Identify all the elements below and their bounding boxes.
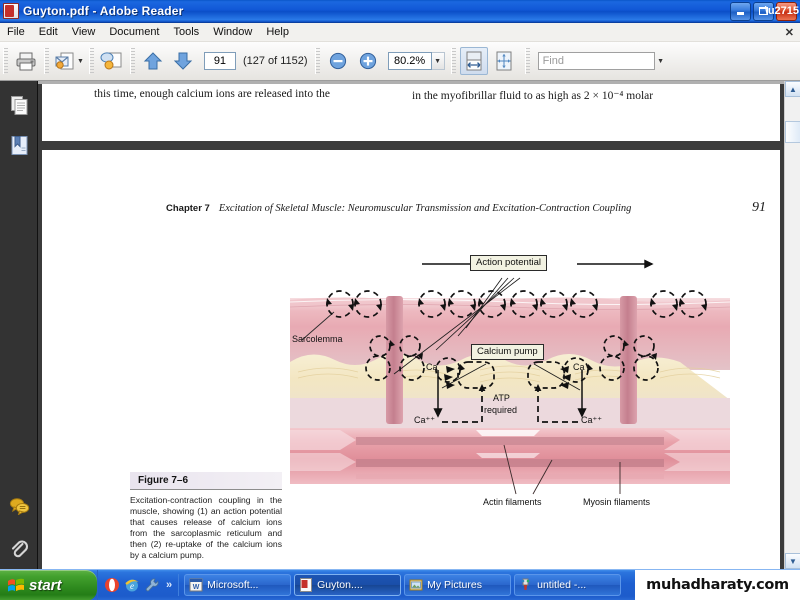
label-action-potential: Action potential bbox=[470, 255, 547, 271]
adobe-reader-window: Guyton.pdf - Adobe Reader \u2715✕ File E… bbox=[0, 0, 800, 600]
fit-page-icon bbox=[494, 50, 514, 72]
attachments-panel-icon[interactable] bbox=[0, 529, 38, 569]
pdf-document-icon bbox=[299, 578, 313, 592]
menu-view[interactable]: View bbox=[65, 25, 103, 40]
arrow-down-icon bbox=[172, 50, 194, 72]
review-comment-button[interactable] bbox=[98, 47, 126, 75]
page-gap bbox=[38, 141, 784, 150]
toolbar-grip-4[interactable] bbox=[130, 48, 135, 74]
start-label: start bbox=[29, 577, 62, 594]
folder-pictures-icon bbox=[409, 578, 423, 592]
window-controls: \u2715✕ bbox=[730, 2, 800, 21]
pages-panel-icon[interactable] bbox=[0, 85, 38, 125]
label-actin-filaments: Actin filaments bbox=[483, 497, 542, 507]
label-ca-ion-left: Ca⁺⁺ bbox=[414, 415, 435, 426]
watermark-text: muhadharaty.com bbox=[646, 577, 789, 593]
email-document-icon bbox=[54, 51, 76, 71]
prev-page-text-right: in the myofibrillar fluid to as high as … bbox=[412, 88, 653, 102]
menu-edit[interactable]: Edit bbox=[32, 25, 65, 40]
zoom-out-button[interactable] bbox=[324, 47, 352, 75]
windows-taskbar: start e » bbox=[0, 569, 800, 600]
pages-icon bbox=[10, 95, 29, 116]
pdf-document-icon bbox=[3, 3, 19, 19]
running-head-chapter: Chapter 7 bbox=[166, 203, 210, 214]
paperclip-icon bbox=[9, 538, 29, 560]
toolbar-grip-6[interactable] bbox=[451, 48, 456, 74]
fit-width-icon bbox=[464, 50, 484, 72]
opera-icon[interactable] bbox=[104, 577, 120, 593]
comments-panel-icon[interactable] bbox=[0, 486, 38, 526]
running-head: Chapter 7 Excitation of Skeletal Muscle:… bbox=[166, 200, 766, 216]
vertical-scrollbar[interactable]: ▲ ▼ bbox=[784, 81, 800, 569]
windows-flag-icon bbox=[7, 577, 25, 594]
fit-page-button[interactable] bbox=[490, 47, 518, 75]
label-atp-line2: required bbox=[484, 405, 517, 415]
label-ca-right: Ca bbox=[573, 362, 585, 372]
word-document-icon: W bbox=[189, 578, 203, 592]
printer-icon bbox=[15, 51, 37, 71]
document-view[interactable]: this time, enough calcium ions are relea… bbox=[38, 81, 784, 569]
close-button[interactable]: \u2715✕ bbox=[776, 2, 797, 21]
page-count-label: (127 of 1152) bbox=[243, 55, 308, 67]
bookmarks-icon bbox=[10, 135, 29, 156]
start-button[interactable]: start bbox=[0, 570, 97, 600]
zoom-in-icon bbox=[358, 51, 378, 71]
zoom-level-input[interactable]: 80.2% bbox=[388, 52, 432, 70]
tools-icon[interactable] bbox=[144, 577, 160, 593]
pdf-page-previous: this time, enough calcium ions are relea… bbox=[42, 84, 780, 141]
close-document-button[interactable]: ✕ bbox=[785, 26, 794, 39]
quick-launch-more-button[interactable]: » bbox=[166, 579, 172, 591]
figure-7-6-diagram: Action potential Calcium pump Sarcolemma… bbox=[290, 250, 730, 510]
review-comment-icon bbox=[100, 51, 124, 71]
bookmarks-panel-icon[interactable] bbox=[0, 125, 38, 165]
menu-tools[interactable]: Tools bbox=[167, 25, 207, 40]
watermark-overlay: muhadharaty.com bbox=[635, 570, 800, 600]
label-sarcolemma: Sarcolemma bbox=[292, 334, 343, 344]
toolbar-grip-3[interactable] bbox=[89, 48, 94, 74]
arrow-up-icon bbox=[142, 50, 164, 72]
label-myosin-filaments: Myosin filaments bbox=[583, 497, 650, 507]
taskbar-item-microsoft-word[interactable]: W Microsoft... bbox=[184, 574, 291, 596]
task-buttons: W Microsoft... Guyton.... bbox=[178, 574, 621, 596]
email-button[interactable]: ▼ bbox=[53, 47, 85, 75]
prev-page-text-left: this time, enough calcium ions are relea… bbox=[94, 88, 330, 100]
taskbar-label-word: Microsoft... bbox=[207, 579, 258, 591]
system-tray: EN muhadharaty.com bbox=[720, 570, 800, 600]
find-dropdown-caret[interactable]: ▼ bbox=[655, 52, 667, 70]
page-number-input[interactable]: 91 bbox=[204, 52, 236, 70]
figure-caption: Excitation-contraction coupling in the m… bbox=[130, 490, 282, 561]
label-ca-left: Ca bbox=[426, 362, 438, 372]
menu-window[interactable]: Window bbox=[206, 25, 259, 40]
title-bar: Guyton.pdf - Adobe Reader \u2715✕ bbox=[0, 0, 800, 23]
comments-icon bbox=[9, 497, 30, 515]
previous-page-button[interactable] bbox=[139, 47, 167, 75]
taskbar-label-guyton: Guyton.... bbox=[317, 579, 363, 591]
taskbar-label-untitled: untitled -... bbox=[537, 579, 586, 591]
minimize-button[interactable] bbox=[730, 2, 751, 21]
internet-explorer-icon[interactable]: e bbox=[124, 577, 140, 593]
scrollbar-thumb[interactable] bbox=[785, 121, 800, 143]
toolbar-grip[interactable] bbox=[3, 48, 8, 74]
running-head-title: Excitation of Skeletal Muscle: Neuromusc… bbox=[219, 203, 632, 214]
taskbar-item-my-pictures[interactable]: My Pictures bbox=[404, 574, 511, 596]
find-input[interactable]: Find bbox=[538, 52, 655, 70]
taskbar-item-untitled-paint[interactable]: untitled -... bbox=[514, 574, 621, 596]
menu-document[interactable]: Document bbox=[102, 25, 166, 40]
figure-caption-block: Figure 7–6 Excitation-contraction coupli… bbox=[130, 472, 282, 561]
pdf-page-current: Chapter 7 Excitation of Skeletal Muscle:… bbox=[42, 150, 780, 569]
toolbar-grip-2[interactable] bbox=[44, 48, 49, 74]
paint-icon bbox=[519, 578, 533, 592]
scroll-up-button[interactable]: ▲ bbox=[785, 81, 800, 97]
label-calcium-pump: Calcium pump bbox=[471, 344, 544, 360]
menu-help[interactable]: Help bbox=[259, 25, 296, 40]
fit-width-button[interactable] bbox=[460, 47, 488, 75]
scroll-down-button[interactable]: ▼ bbox=[785, 553, 800, 569]
navigation-pane bbox=[0, 81, 38, 569]
main-toolbar: ▼ 91 (127 of 1152) bbox=[0, 42, 800, 81]
quick-launch-bar: e » bbox=[97, 570, 178, 600]
running-head-page: 91 bbox=[752, 200, 766, 216]
muscle-diagram-svg bbox=[290, 250, 730, 510]
toolbar-grip-7[interactable] bbox=[525, 48, 530, 74]
menu-bar: File Edit View Document Tools Window Hel… bbox=[0, 23, 800, 42]
label-atp-line1: ATP bbox=[493, 393, 510, 403]
print-button[interactable] bbox=[12, 47, 40, 75]
menu-file[interactable]: File bbox=[0, 25, 32, 40]
email-dropdown-caret[interactable]: ▼ bbox=[77, 58, 84, 65]
svg-text:W: W bbox=[193, 584, 200, 591]
label-ca-ion-right: Ca⁺⁺ bbox=[581, 415, 602, 426]
taskbar-label-my-pictures: My Pictures bbox=[427, 579, 482, 591]
toolbar-grip-5[interactable] bbox=[315, 48, 320, 74]
svg-text:e: e bbox=[130, 581, 134, 591]
taskbar-item-guyton-pdf[interactable]: Guyton.... bbox=[294, 574, 401, 596]
window-title: Guyton.pdf - Adobe Reader bbox=[23, 4, 184, 18]
zoom-dropdown-caret[interactable]: ▼ bbox=[432, 52, 445, 70]
figure-number: Figure 7–6 bbox=[130, 472, 282, 490]
zoom-in-button[interactable] bbox=[354, 47, 382, 75]
next-page-button[interactable] bbox=[169, 47, 197, 75]
zoom-out-icon bbox=[328, 51, 348, 71]
